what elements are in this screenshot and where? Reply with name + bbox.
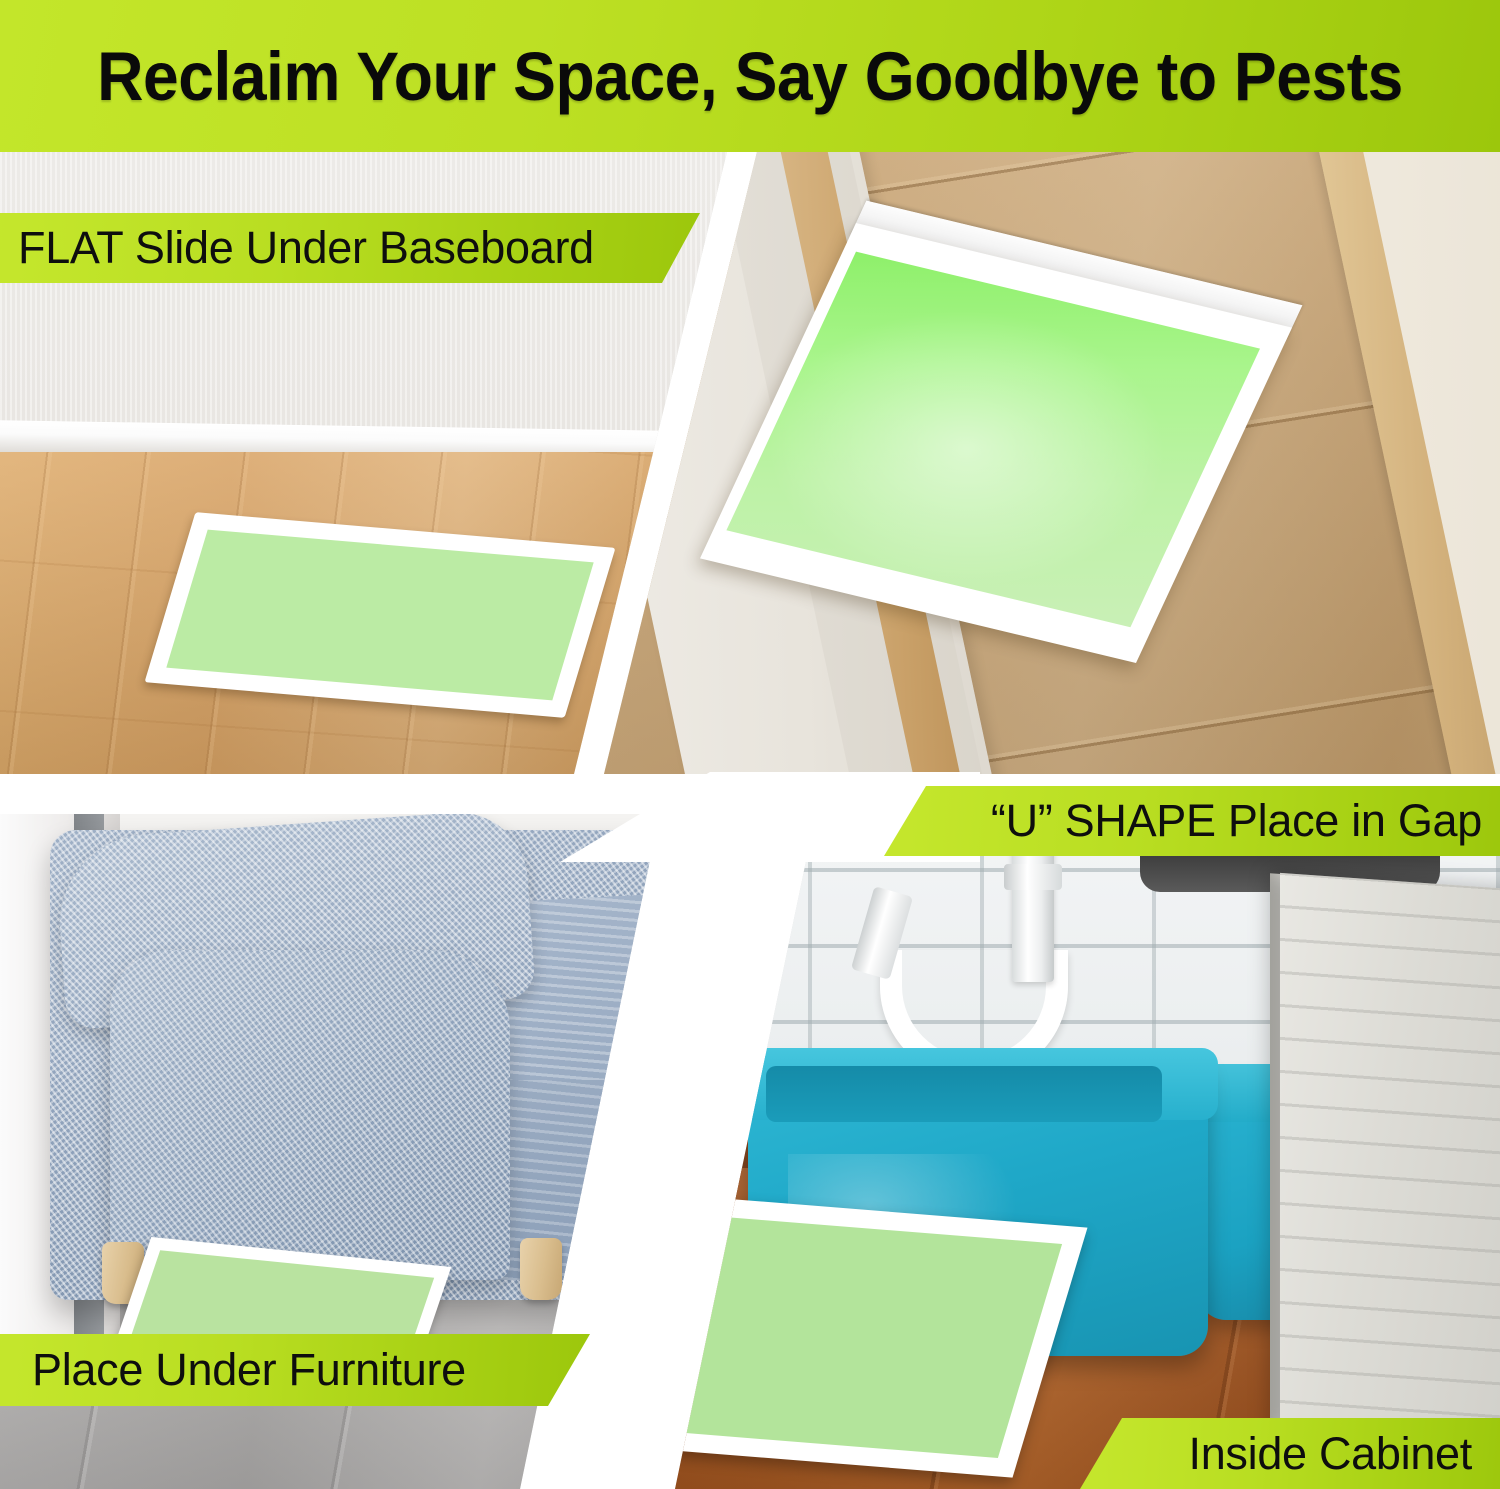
glue-trap-flat [580, 1184, 1088, 1477]
page-title: Reclaim Your Space, Say Goodbye to Pests [97, 37, 1403, 116]
header-banner: Reclaim Your Space, Say Goodbye to Pests [0, 0, 1500, 152]
label-text: “U” SHAPE Place in Gap [991, 795, 1482, 847]
label-text: FLAT Slide Under Baseboard [18, 222, 594, 274]
label-inside-cabinet: Inside Cabinet [1080, 1418, 1500, 1489]
sink-tailpiece-pipe [1012, 842, 1054, 982]
panel-inside-cabinet [580, 842, 1500, 1489]
basin-interior [766, 1066, 1162, 1122]
sofa [50, 830, 840, 1300]
label-text: Inside Cabinet [1189, 1428, 1473, 1480]
glue-trap-surface [166, 530, 593, 701]
sofa-armrest [110, 950, 510, 1280]
glue-trap-surface [580, 1204, 1062, 1458]
label-place-under-furniture: Place Under Furniture [0, 1334, 590, 1406]
basin-rim [738, 1048, 1218, 1120]
label-flat-slide-under-baseboard: FLAT Slide Under Baseboard [0, 213, 700, 283]
sofa-leg [520, 1238, 562, 1300]
panel-u-shape-place-in-gap [600, 152, 1500, 782]
label-u-shape-place-in-gap: “U” SHAPE Place in Gap [884, 786, 1500, 856]
pipe-coupling-nut [1004, 864, 1062, 890]
label-text: Place Under Furniture [32, 1344, 466, 1396]
cabinet-door [1280, 873, 1500, 1451]
glue-trap-flat [145, 512, 616, 718]
